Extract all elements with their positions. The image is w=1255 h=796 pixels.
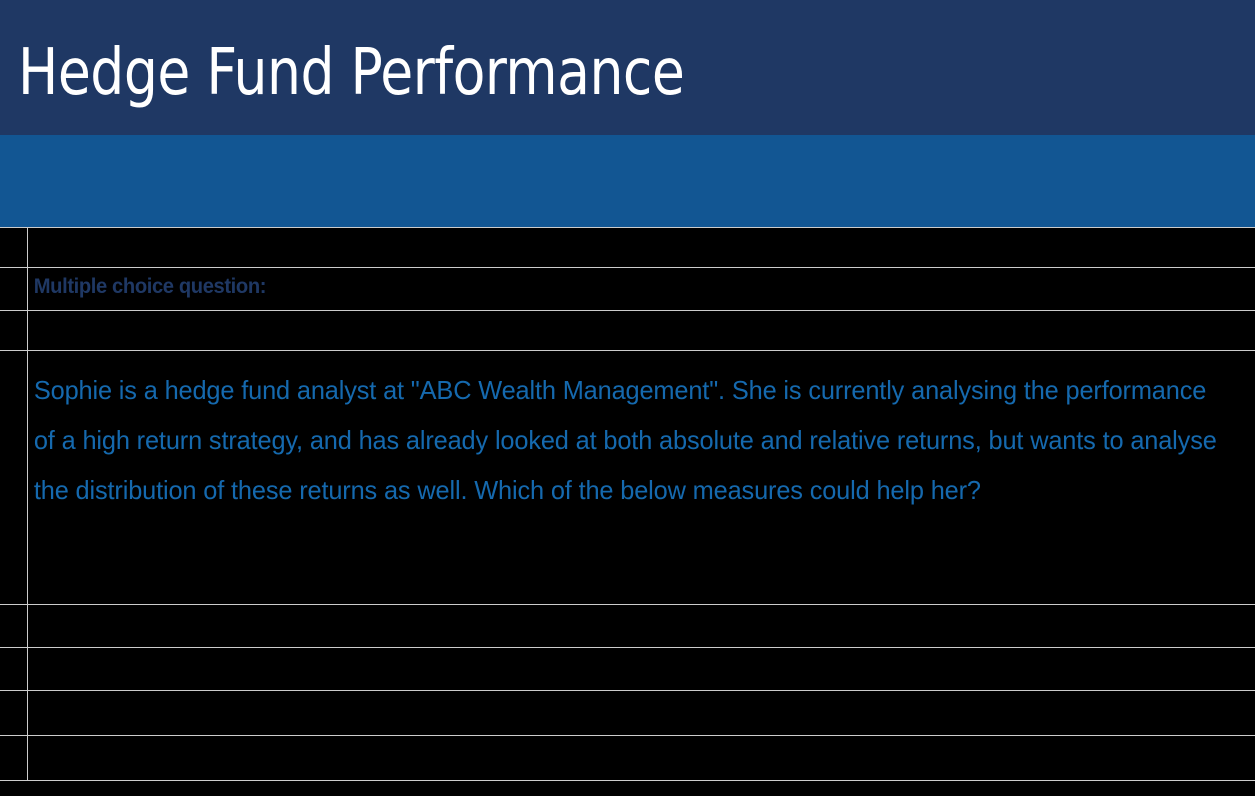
table-row: [0, 605, 1255, 648]
table-row: [0, 648, 1255, 691]
answer-option-cell-c[interactable]: [28, 691, 1255, 736]
question-label-cell: Multiple choice question:: [28, 268, 1255, 311]
row-gutter-cell: [0, 228, 28, 268]
answer-option-cell-a[interactable]: [28, 605, 1255, 648]
table-row: [0, 311, 1255, 351]
row-gutter-cell: [0, 691, 28, 736]
question-table: Multiple choice question: Sophie is a he…: [0, 227, 1255, 781]
question-text: Sophie is a hedge fund analyst at "ABC W…: [28, 351, 1224, 515]
row-gutter-cell: [0, 268, 28, 311]
spacer-cell-mid: [28, 311, 1255, 351]
row-gutter-cell: [0, 648, 28, 691]
page-title: Hedge Fund Performance: [18, 38, 684, 108]
table-row: Sophie is a hedge fund analyst at "ABC W…: [0, 351, 1255, 605]
row-gutter-cell: [0, 351, 28, 605]
row-gutter-cell: [0, 736, 28, 781]
table-row: [0, 736, 1255, 781]
question-body-cell: Sophie is a hedge fund analyst at "ABC W…: [28, 351, 1255, 605]
header-blue-banner: [0, 135, 1255, 227]
slide-root: Hedge Fund Performance Multiple choice q…: [0, 0, 1255, 796]
row-gutter-cell: [0, 311, 28, 351]
table-row: [0, 691, 1255, 736]
question-label: Multiple choice question:: [28, 268, 1206, 299]
header-navy-banner: Hedge Fund Performance: [0, 0, 1255, 135]
table-row: [0, 228, 1255, 268]
row-gutter-cell: [0, 605, 28, 648]
answer-option-cell-d[interactable]: [28, 736, 1255, 781]
spacer-cell-top: [28, 228, 1255, 268]
table-row: Multiple choice question:: [0, 268, 1255, 311]
answer-option-cell-b[interactable]: [28, 648, 1255, 691]
